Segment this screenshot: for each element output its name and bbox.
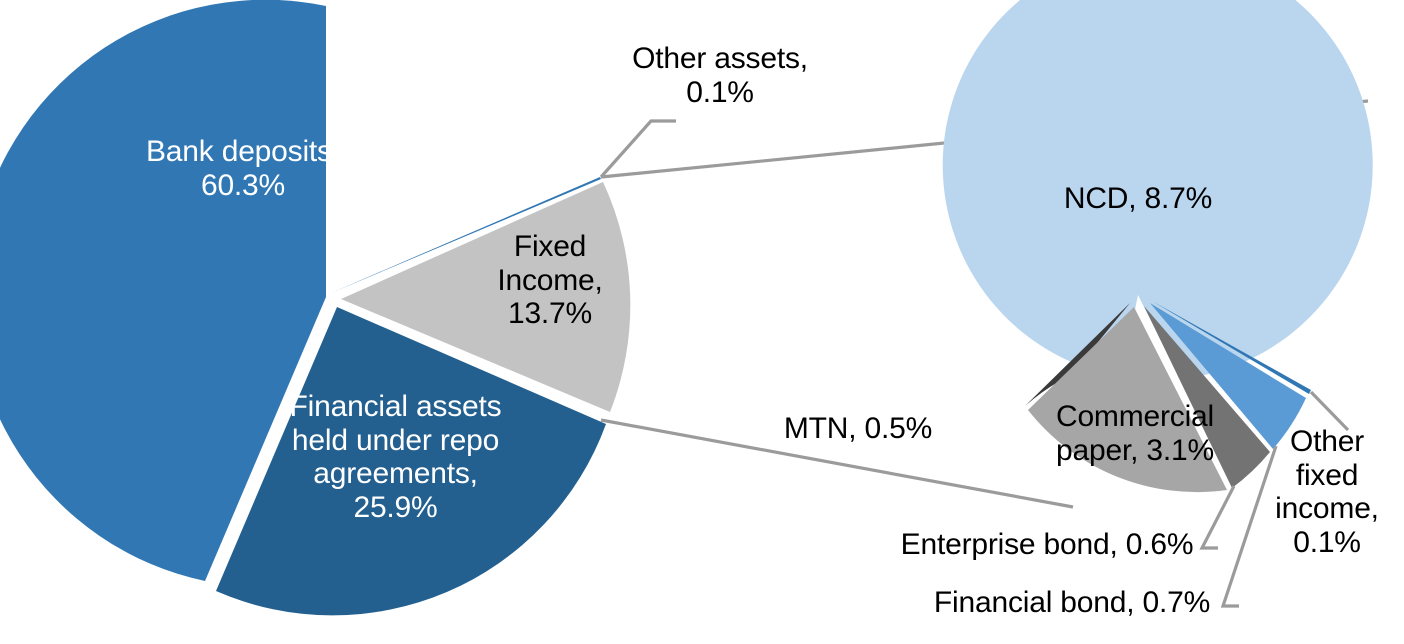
pie-of-pie-chart: Bank deposits, 60.3% Financial assets he… <box>0 0 1404 644</box>
label-commercial-paper: Commercial paper, 3.1% <box>1030 400 1240 467</box>
label-enterprise-bond: Enterprise bond, 0.6% <box>872 528 1222 562</box>
label-other-fixed-income: Other fixed income, 0.1% <box>1252 425 1402 559</box>
label-bank-deposits: Bank deposits, 60.3% <box>108 135 378 202</box>
label-other-assets: Other assets, 0.1% <box>600 42 840 109</box>
label-ncd: NCD, 8.7% <box>1028 182 1248 216</box>
label-repo: Financial assets held under repo agreeme… <box>253 390 538 524</box>
label-financial-bond: Financial bond, 0.7% <box>902 586 1242 620</box>
label-fixed-income: Fixed Income, 13.7% <box>470 230 630 331</box>
label-mtn: MTN, 0.5% <box>768 412 948 446</box>
other-assets-leader-line <box>601 121 676 177</box>
